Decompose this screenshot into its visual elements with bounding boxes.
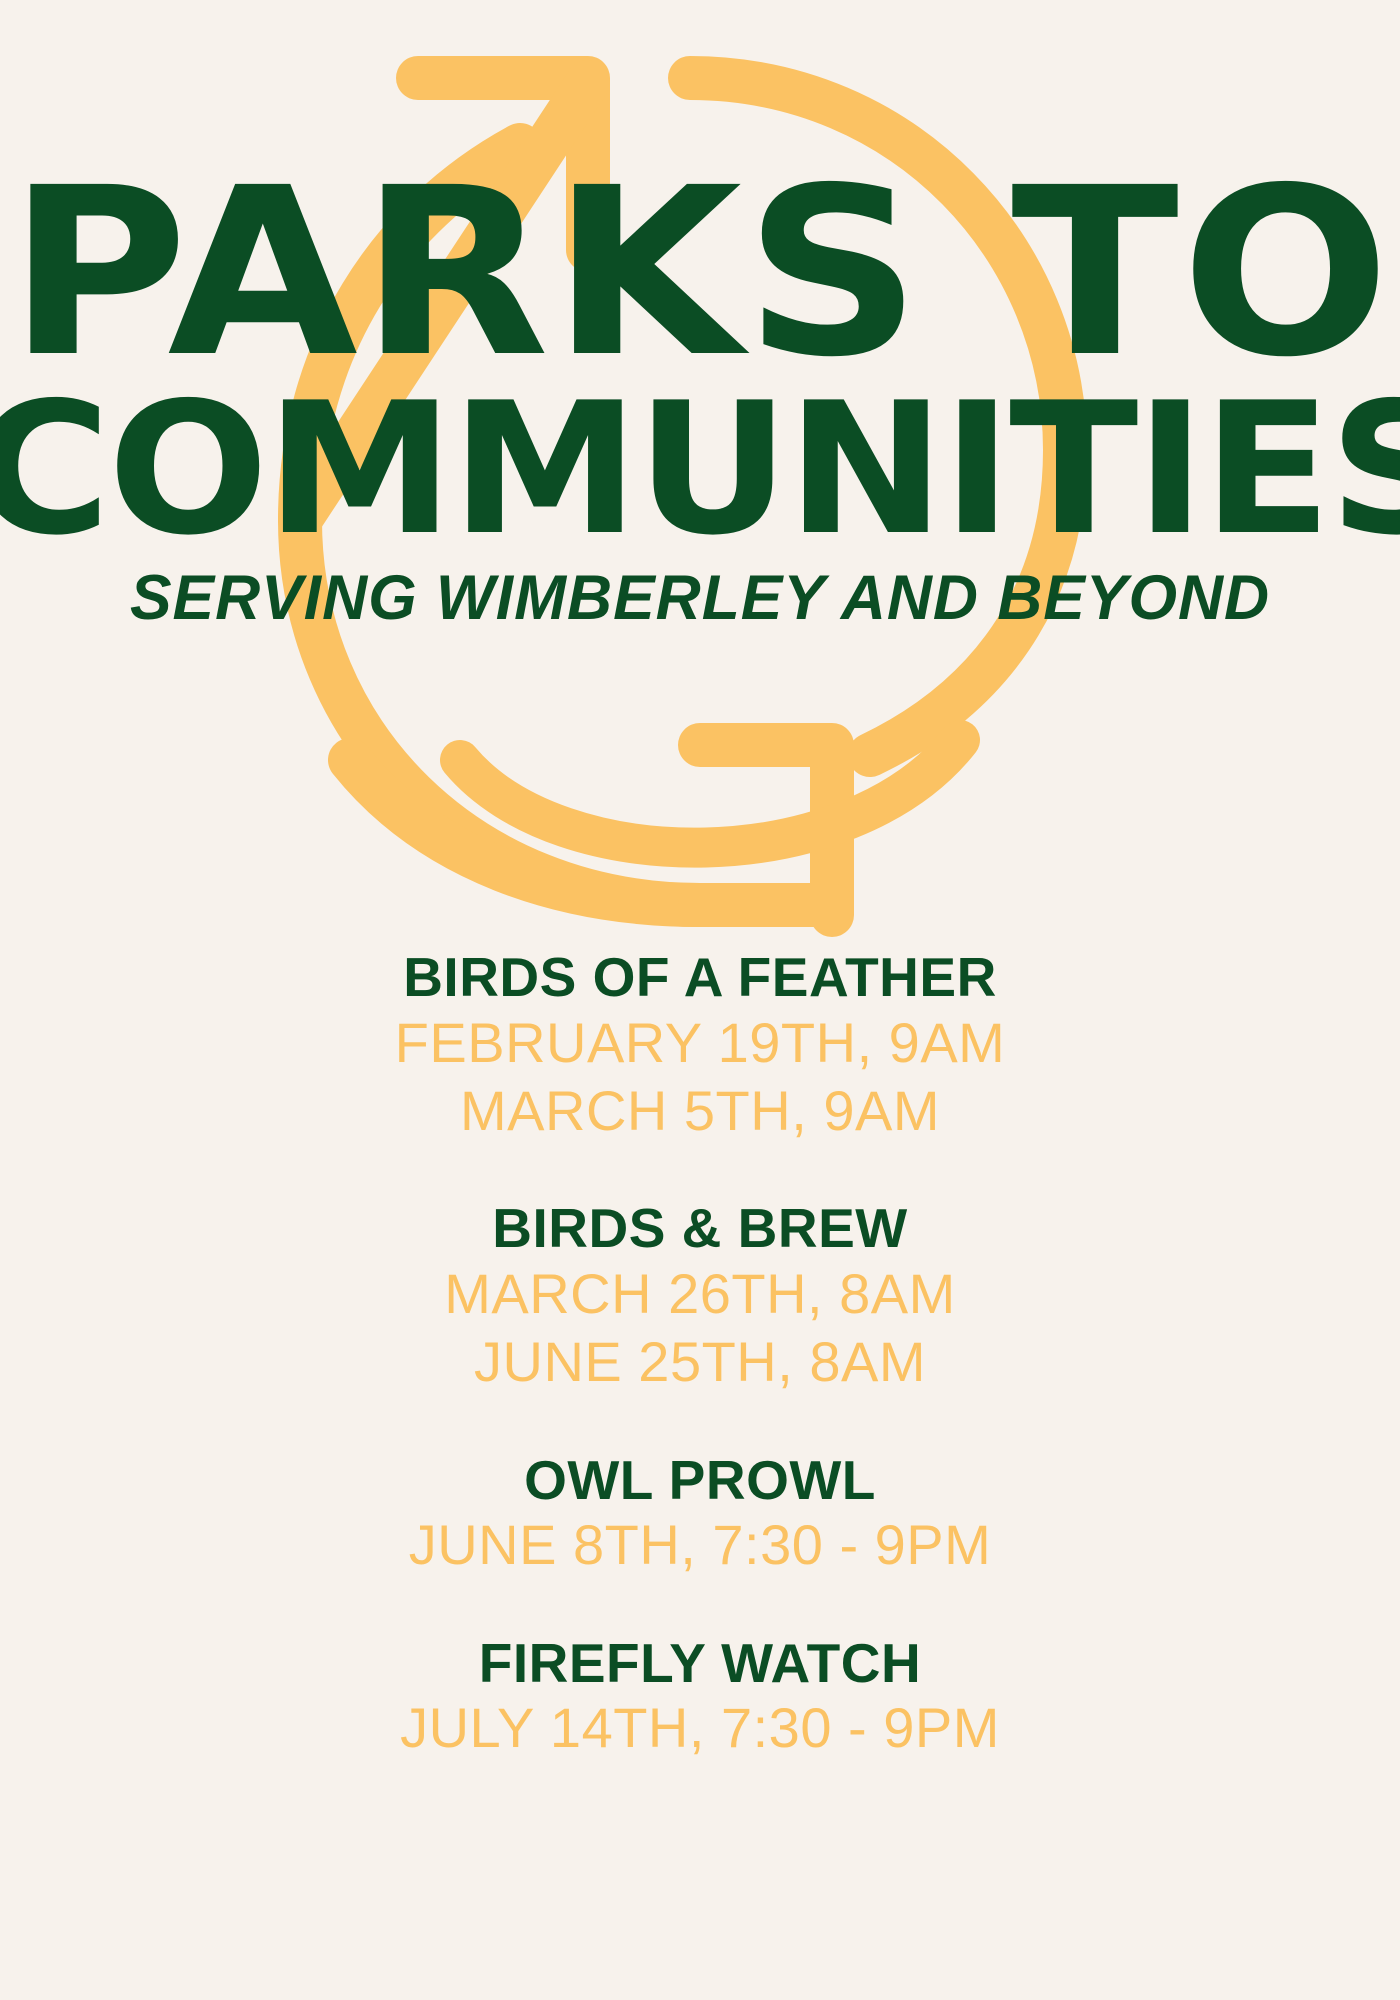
page-title-line-2: COMMUNITIES xyxy=(0,393,1400,546)
event-name: FIREFLY WATCH xyxy=(0,1632,1400,1695)
event-name: OWL PROWL xyxy=(0,1449,1400,1512)
event-date: JULY 14TH, 7:30 - 9PM xyxy=(0,1694,1400,1762)
event-item: FIREFLY WATCHJULY 14TH, 7:30 - 9PM xyxy=(0,1632,1400,1763)
event-date: FEBRUARY 19TH, 9AM xyxy=(0,1009,1400,1077)
event-date: MARCH 26TH, 8AM xyxy=(0,1260,1400,1328)
event-list: BIRDS OF A FEATHERFEBRUARY 19TH, 9AMMARC… xyxy=(0,946,1400,1763)
event-name: BIRDS OF A FEATHER xyxy=(0,946,1400,1009)
event-item: OWL PROWLJUNE 8TH, 7:30 - 9PM xyxy=(0,1449,1400,1580)
event-name: BIRDS & BREW xyxy=(0,1197,1400,1260)
event-date: MARCH 5TH, 9AM xyxy=(0,1077,1400,1145)
event-date: JUNE 25TH, 8AM xyxy=(0,1328,1400,1396)
poster-canvas: PARKS TO COMMUNITIES SERVING WIMBERLEY A… xyxy=(0,0,1400,2000)
page-subtitle: SERVING WIMBERLEY AND BEYOND xyxy=(7,562,1393,634)
poster-header: PARKS TO COMMUNITIES SERVING WIMBERLEY A… xyxy=(0,0,1400,634)
event-date: JUNE 8TH, 7:30 - 9PM xyxy=(0,1511,1400,1579)
event-item: BIRDS & BREWMARCH 26TH, 8AMJUNE 25TH, 8A… xyxy=(0,1197,1400,1396)
page-title-line-1: PARKS TO xyxy=(0,0,1400,371)
event-item: BIRDS OF A FEATHERFEBRUARY 19TH, 9AMMARC… xyxy=(0,946,1400,1145)
